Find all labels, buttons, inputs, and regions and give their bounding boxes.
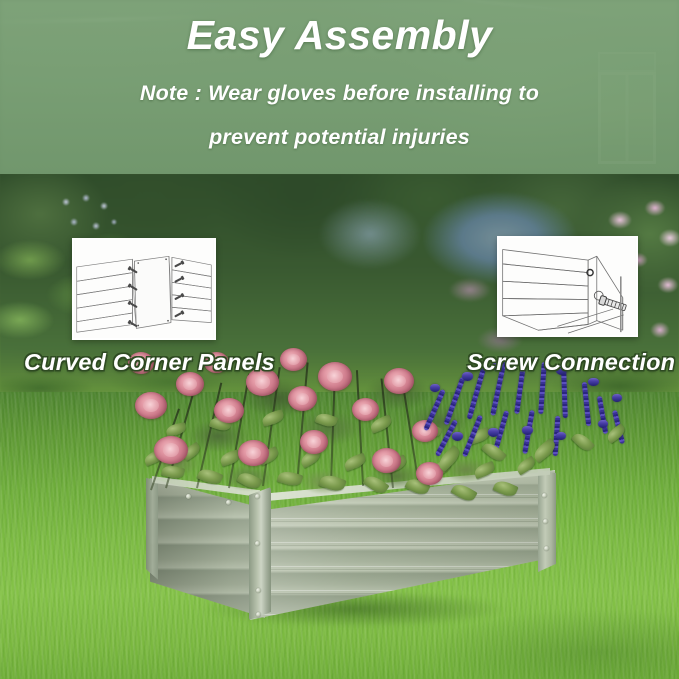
screw-connection-diagram bbox=[499, 238, 636, 335]
salvia-floret bbox=[598, 420, 608, 428]
screw bbox=[255, 541, 260, 546]
caption-curved-corner-panels: Curved Corner Panels bbox=[24, 349, 275, 376]
rose-bloom bbox=[384, 368, 414, 394]
screw bbox=[543, 519, 548, 524]
header-banner: Easy Assembly Note : Wear gloves before … bbox=[0, 0, 679, 174]
salvia-floret bbox=[612, 394, 622, 402]
header-text-block: Easy Assembly Note : Wear gloves before … bbox=[0, 0, 679, 174]
inset-screw-connection bbox=[497, 236, 638, 337]
salvia-floret bbox=[522, 426, 533, 435]
screw bbox=[256, 612, 261, 617]
rose-bloom bbox=[288, 386, 317, 411]
rose-bloom bbox=[372, 448, 401, 473]
rose-bloom bbox=[352, 398, 379, 421]
rose-bloom bbox=[214, 398, 244, 423]
salvia-floret bbox=[452, 432, 463, 441]
inset-curved-corner-panels bbox=[72, 238, 216, 340]
screw bbox=[544, 546, 549, 551]
note-line-2: prevent potential injuries bbox=[209, 127, 470, 149]
rose-bloom bbox=[280, 348, 307, 371]
rose-bloom bbox=[318, 362, 352, 391]
salvia-floret bbox=[588, 378, 599, 386]
product-image: Easy Assembly Note : Wear gloves before … bbox=[0, 0, 679, 679]
curved-corner-panels-diagram bbox=[74, 240, 214, 338]
page-title: Easy Assembly bbox=[187, 12, 493, 59]
salvia-floret bbox=[556, 432, 566, 440]
rose-bloom bbox=[238, 440, 269, 466]
salvia-floret bbox=[488, 428, 499, 437]
rose-bloom bbox=[154, 436, 188, 464]
screw bbox=[256, 588, 261, 593]
bed-front-corner-post bbox=[249, 487, 271, 620]
note-line-1: Note : Wear gloves before installing to bbox=[140, 83, 539, 105]
salvia-floret bbox=[430, 384, 440, 392]
rose-bloom bbox=[300, 430, 328, 454]
rose-bloom bbox=[135, 392, 167, 419]
caption-screw-connection: Screw Connection bbox=[467, 349, 675, 376]
